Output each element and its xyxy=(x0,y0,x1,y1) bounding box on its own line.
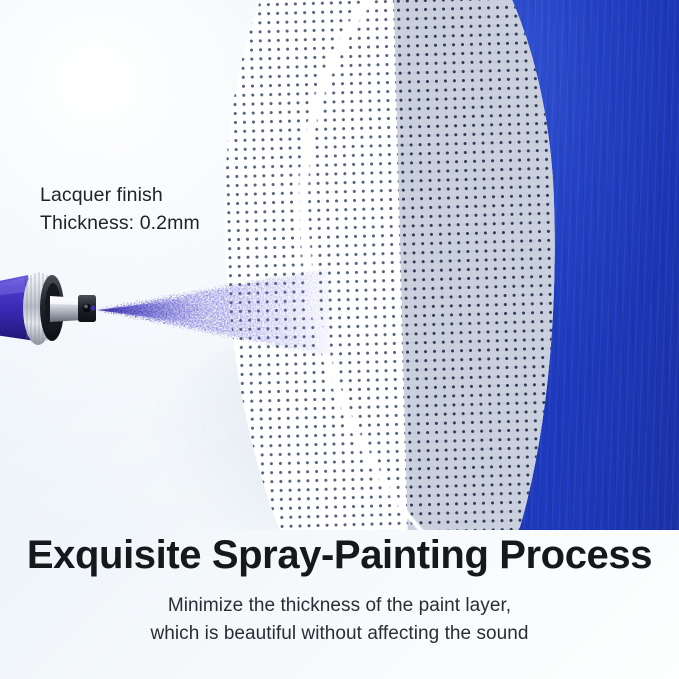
spray-paint-can xyxy=(0,248,126,368)
strap-button xyxy=(417,487,434,496)
promo-image: Lacquer finish Thickness: 0.2mm Exquisit… xyxy=(0,0,679,679)
subtitle: Minimize the thickness of the paint laye… xyxy=(26,592,653,647)
headline: Exquisite Spray-Painting Process xyxy=(26,534,653,576)
marketing-copy: Exquisite Spray-Painting Process Minimiz… xyxy=(0,534,679,647)
lacquer-callout: Lacquer finish Thickness: 0.2mm xyxy=(40,182,200,237)
